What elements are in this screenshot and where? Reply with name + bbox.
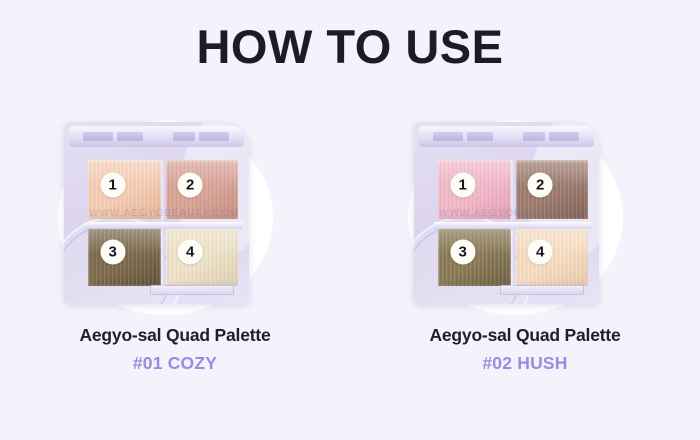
lid-detail-c bbox=[173, 132, 195, 141]
product-card-01[interactable]: 1 2 3 4 WWW.AEGYOBEAUTY bbox=[50, 108, 300, 374]
pan-number-badge-2: 2 bbox=[178, 172, 203, 197]
pan-number-badge-3: 3 bbox=[450, 239, 475, 264]
pan-row-divider bbox=[84, 222, 242, 229]
clear-lid-strip bbox=[69, 126, 244, 147]
pan-3[interactable]: 3 bbox=[88, 227, 161, 286]
pan-number-badge-1: 1 bbox=[450, 172, 475, 197]
pan-number-badge-3: 3 bbox=[100, 239, 125, 264]
watermark-text: WWW.AEGYOBEAUTY.COM bbox=[430, 208, 598, 219]
product-card-02[interactable]: 1 2 3 4 WWW.AEGYOBEAUTY bbox=[400, 108, 650, 374]
case-base-bar bbox=[500, 285, 584, 295]
palette-figure-01: 1 2 3 4 WWW.AEGYOBEAUTY bbox=[50, 108, 300, 320]
pan-number-badge-2: 2 bbox=[528, 172, 553, 197]
lid-detail-b bbox=[117, 132, 143, 141]
compact-case: 1 2 3 4 WWW.AEGYOBEAUTY bbox=[414, 122, 599, 304]
lid-detail-b bbox=[467, 132, 493, 141]
pan-number-badge-1: 1 bbox=[100, 172, 125, 197]
pan-4[interactable]: 4 bbox=[516, 227, 589, 286]
case-base-bar bbox=[150, 285, 234, 295]
compact-case: 1 2 3 4 WWW.AEGYOBEAUTY bbox=[64, 122, 249, 304]
product-name: Aegyo-sal Quad Palette bbox=[400, 324, 650, 348]
page-title: HOW TO USE bbox=[0, 22, 700, 71]
lid-detail-a bbox=[433, 132, 463, 141]
pan-row-divider bbox=[434, 222, 592, 229]
clear-lid-strip bbox=[419, 126, 594, 147]
products-row: 1 2 3 4 WWW.AEGYOBEAUTY bbox=[0, 108, 700, 374]
pan-number-badge-4: 4 bbox=[528, 239, 553, 264]
shade-code: #01 COZY bbox=[50, 353, 300, 374]
product-caption-02: Aegyo-sal Quad Palette #02 HUSH bbox=[400, 324, 650, 374]
lid-detail-d bbox=[199, 132, 229, 141]
pan-number-badge-4: 4 bbox=[178, 239, 203, 264]
pan-3[interactable]: 3 bbox=[438, 227, 511, 286]
shade-code: #02 HUSH bbox=[400, 353, 650, 374]
product-name: Aegyo-sal Quad Palette bbox=[50, 324, 300, 348]
page-root: HOW TO USE bbox=[0, 0, 700, 440]
lid-detail-a bbox=[83, 132, 113, 141]
lid-detail-d bbox=[549, 132, 579, 141]
pan-4[interactable]: 4 bbox=[166, 227, 239, 286]
lid-detail-c bbox=[523, 132, 545, 141]
product-caption-01: Aegyo-sal Quad Palette #01 COZY bbox=[50, 324, 300, 374]
palette-figure-02: 1 2 3 4 WWW.AEGYOBEAUTY bbox=[400, 108, 650, 320]
watermark-text: WWW.AEGYOBEAUTY.COM bbox=[80, 208, 248, 219]
